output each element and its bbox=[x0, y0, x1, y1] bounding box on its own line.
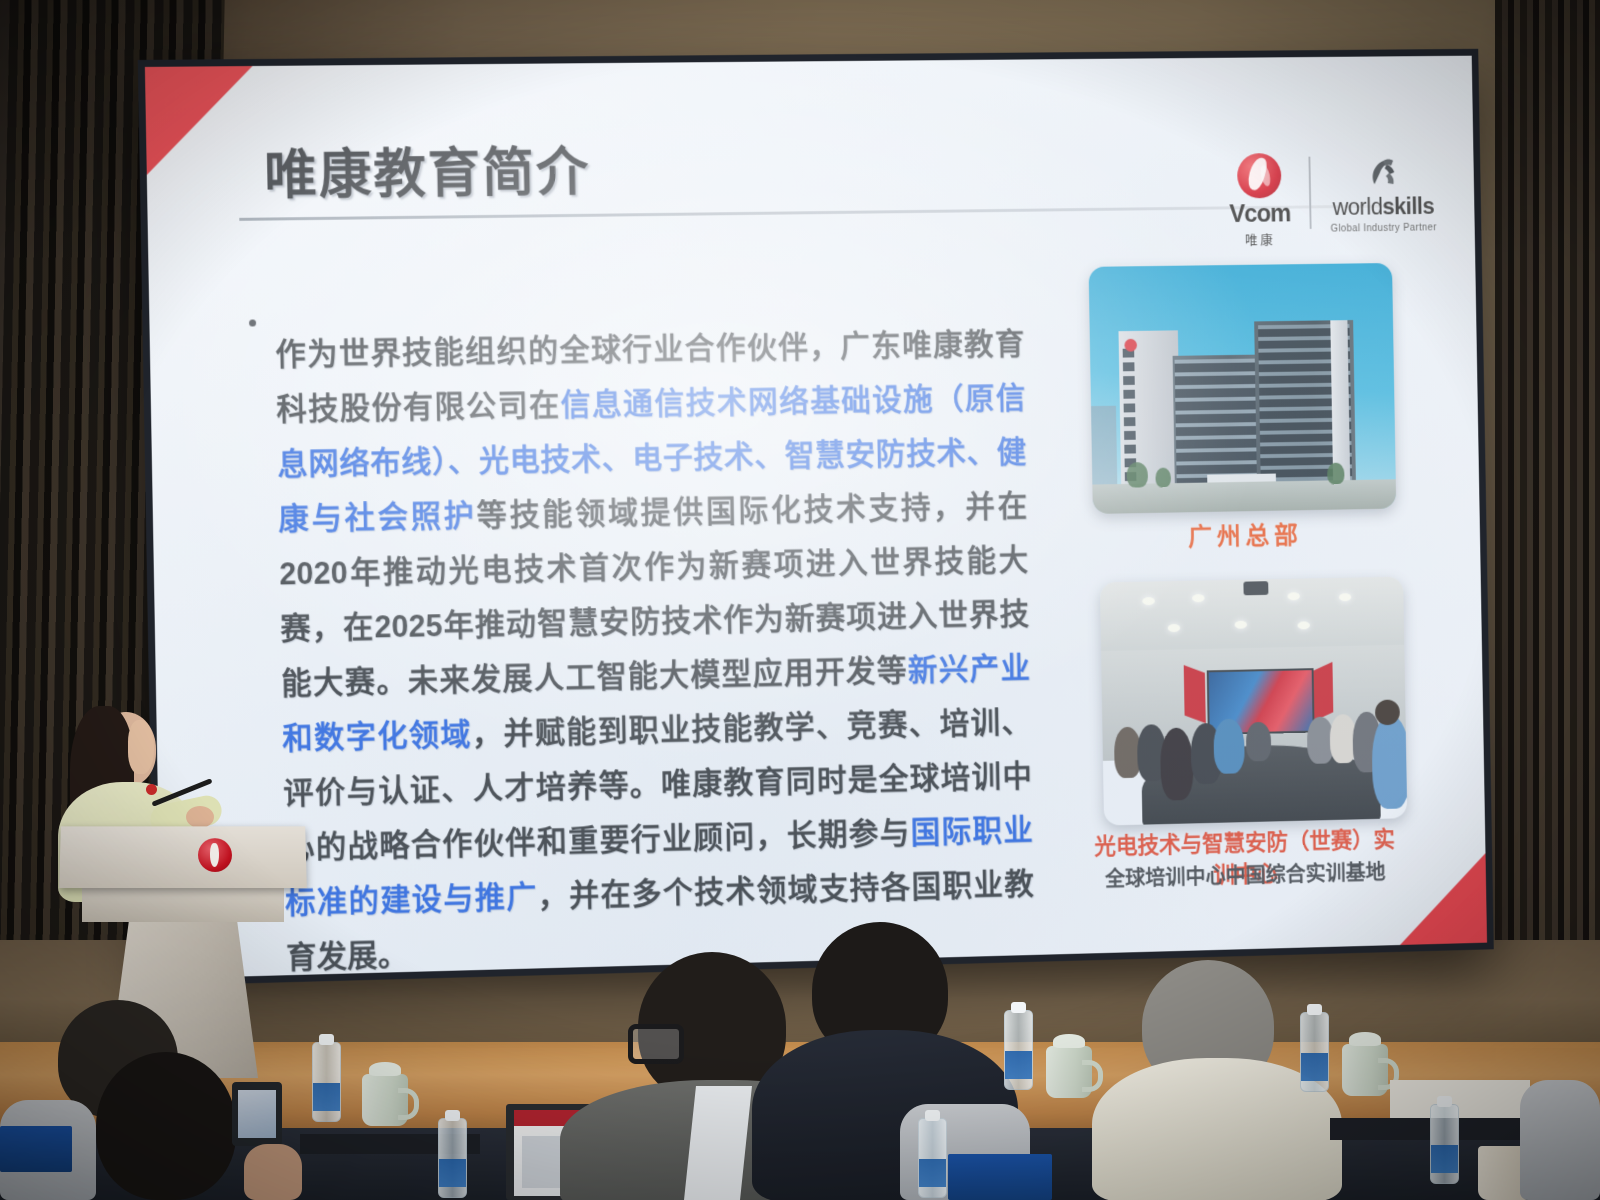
photo-attendee bbox=[1371, 715, 1407, 809]
water-bottle bbox=[1004, 1010, 1033, 1090]
conference-photo-scene: 唯康教育简介 Vcom 唯康 bbox=[0, 0, 1600, 1200]
microphone-head-icon bbox=[146, 784, 157, 795]
photo-attendee bbox=[1160, 727, 1194, 800]
presentation-slide: 唯康教育简介 Vcom 唯康 bbox=[145, 56, 1487, 979]
guangzhou-headquarters-photo bbox=[1089, 263, 1397, 514]
presenter-face bbox=[128, 720, 154, 774]
training-center-photo bbox=[1100, 577, 1407, 826]
photo-attendee bbox=[1246, 722, 1271, 762]
bullet-marker-icon bbox=[249, 319, 256, 326]
eyeglasses-icon bbox=[628, 1024, 684, 1064]
photo-flag bbox=[1313, 662, 1333, 721]
audience-member-head bbox=[96, 1052, 236, 1200]
tea-cup bbox=[1046, 1046, 1092, 1098]
slide-corner-accent-bottom-right bbox=[1398, 853, 1487, 945]
water-bottle bbox=[1300, 1012, 1329, 1092]
slide-title: 唯康教育简介 bbox=[264, 131, 591, 210]
photo-ceiling-projector-icon bbox=[1243, 581, 1268, 595]
slide-paragraph: 作为世界技能组织的全球行业合作伙伴，广东唯康教育科技股份有限公司在信息通信技术网… bbox=[275, 317, 1035, 978]
smartphone-screen bbox=[238, 1090, 276, 1138]
worldskills-hand-icon bbox=[1363, 152, 1402, 191]
photo-building-logo-icon bbox=[1124, 339, 1137, 352]
dress-shirt bbox=[684, 1086, 752, 1200]
guangzhou-headquarters-caption: 广州总部 bbox=[1087, 514, 1402, 555]
presenter-hand bbox=[186, 806, 214, 828]
photo-attendee bbox=[1213, 719, 1244, 774]
photo-tree bbox=[1327, 463, 1344, 485]
vcom-chinese-name: 唯康 bbox=[1245, 229, 1276, 248]
podium-emblem-icon bbox=[198, 838, 232, 872]
logo-lockup: Vcom 唯康 worldskills Global Industry bbox=[1222, 151, 1442, 248]
water-bottle bbox=[918, 1118, 947, 1198]
slide-corner-accent-top-left bbox=[145, 66, 255, 175]
tea-cup bbox=[362, 1074, 408, 1126]
name-card bbox=[0, 1126, 72, 1172]
document-stack bbox=[1390, 1080, 1530, 1120]
vcom-logo: Vcom 唯康 bbox=[1222, 153, 1310, 249]
audience-hand bbox=[244, 1144, 302, 1200]
projection-screen: 唯康教育简介 Vcom 唯康 bbox=[138, 49, 1494, 986]
name-card bbox=[948, 1154, 1052, 1200]
slide-body: 作为世界技能组织的全球行业合作伙伴，广东唯康教育科技股份有限公司在信息通信技术网… bbox=[241, 287, 1036, 978]
water-bottle bbox=[312, 1042, 341, 1122]
worldskills-logo: worldskills Global Industry Partner bbox=[1310, 151, 1442, 234]
photo-flag bbox=[1184, 665, 1206, 724]
tea-cup bbox=[1342, 1044, 1388, 1096]
podium-neck bbox=[82, 884, 284, 922]
worldskills-wordmark: worldskills bbox=[1332, 193, 1434, 220]
vcom-flame-icon bbox=[1237, 153, 1282, 198]
photo-tree bbox=[1155, 468, 1171, 488]
podium-top bbox=[59, 826, 307, 888]
photo-tree bbox=[1127, 462, 1149, 488]
water-bottle bbox=[1430, 1104, 1459, 1184]
worldskills-tagline: Global Industry Partner bbox=[1331, 222, 1437, 234]
vcom-wordmark: Vcom bbox=[1229, 200, 1291, 229]
chair-back bbox=[1520, 1080, 1600, 1200]
water-bottle bbox=[438, 1118, 467, 1198]
